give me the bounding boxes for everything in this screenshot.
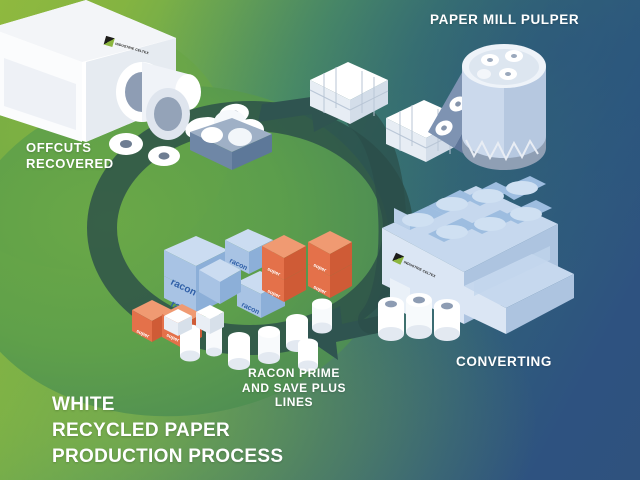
output-roll-2 — [406, 293, 432, 339]
bin-tissue-4 — [201, 127, 223, 143]
offcut-collection-bin — [182, 104, 278, 176]
product-roll-c — [228, 332, 250, 370]
title-line3: PRODUCTION PROCESS — [52, 444, 283, 470]
offcut-ring-1 — [109, 133, 143, 155]
label-offcuts-recovered: OFFCUTS RECOVERED — [26, 140, 114, 172]
label-racon-line1: RACON PRIME — [234, 366, 354, 381]
paper-mill-pulper — [424, 36, 584, 186]
label-converting: CONVERTING — [456, 354, 552, 370]
tissue-packs — [160, 296, 230, 346]
large-roll-b-core — [154, 97, 182, 131]
label-converting-text: CONVERTING — [456, 354, 552, 369]
title-line2: RECYCLED PAPER — [52, 418, 283, 444]
output-roll-3 — [434, 299, 460, 341]
product-roll-d — [258, 326, 280, 364]
product-roll-f — [312, 299, 332, 334]
offcut-ring-2 — [148, 146, 180, 166]
infographic-canvas: INDUSTRIE CELTEX — [0, 0, 640, 480]
output-roll-1 — [378, 297, 404, 341]
bin-tissue-5 — [228, 128, 252, 146]
paper-bale-1 — [306, 58, 392, 130]
label-offcuts-line2: RECOVERED — [26, 156, 114, 172]
title-line1: WHITE — [52, 392, 283, 418]
page-title: WHITE RECYCLED PAPER PRODUCTION PROCESS — [52, 392, 283, 471]
label-offcuts-line1: OFFCUTS — [26, 140, 114, 156]
label-paper-mill-pulper: PAPER MILL PULPER — [430, 12, 579, 28]
label-pulper-text: PAPER MILL PULPER — [430, 12, 579, 27]
converting-output-rolls — [372, 288, 468, 350]
pulper-slurry — [469, 49, 539, 85]
